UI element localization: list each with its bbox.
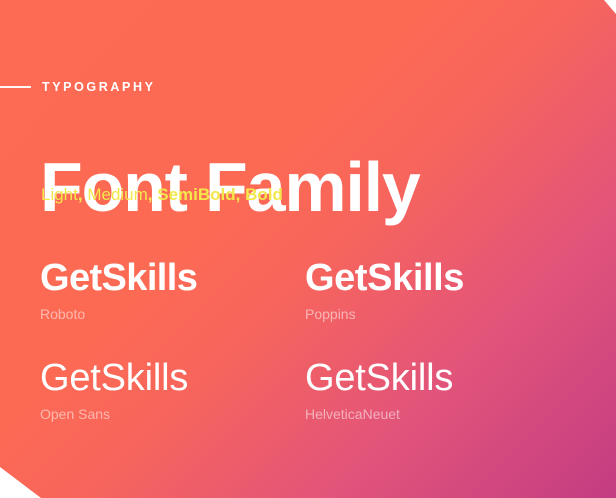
font-sample-word: GetSkills: [40, 356, 305, 400]
weight-semibold: SemiBold: [157, 185, 235, 204]
font-weights-list: Light, Medium, SemiBold, Bold: [41, 185, 283, 205]
weight-bold: Bold: [245, 185, 283, 204]
weight-separator: ,: [236, 185, 245, 204]
eyebrow: TYPOGRAPHY: [0, 78, 156, 96]
font-sample-name: Poppins: [305, 305, 570, 323]
weight-separator: ,: [148, 185, 157, 204]
weight-light: Light: [41, 185, 78, 204]
font-sample-name: Roboto: [40, 305, 305, 323]
eyebrow-label: TYPOGRAPHY: [42, 81, 156, 94]
eyebrow-rule-icon: [0, 86, 31, 88]
font-sample-helvetica-neuet: GetSkills HelveticaNeuet: [305, 356, 570, 456]
font-sample-word: GetSkills: [305, 256, 570, 300]
weight-medium: Medium: [87, 185, 147, 204]
font-sample-word: GetSkills: [305, 356, 570, 400]
typography-slide: TYPOGRAPHY Font Family Light, Medium, Se…: [0, 0, 616, 498]
font-sample-name: HelveticaNeuet: [305, 405, 570, 423]
font-sample-grid: GetSkills Roboto GetSkills Poppins GetSk…: [40, 256, 540, 456]
weight-separator: ,: [78, 185, 87, 204]
font-sample-roboto: GetSkills Roboto: [40, 256, 305, 356]
font-sample-poppins: GetSkills Poppins: [305, 256, 570, 356]
font-sample-open-sans: GetSkills Open Sans: [40, 356, 305, 456]
font-sample-word: GetSkills: [40, 256, 305, 300]
font-sample-name: Open Sans: [40, 405, 305, 423]
